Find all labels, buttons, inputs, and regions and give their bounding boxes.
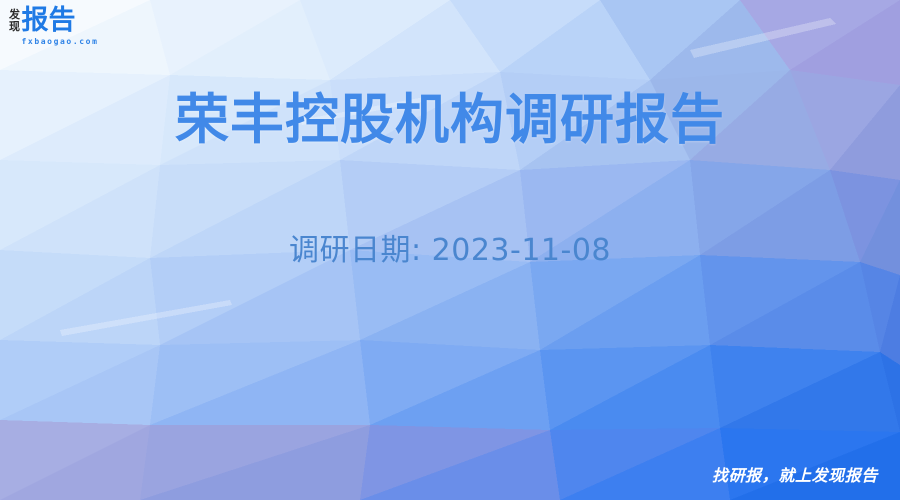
survey-date-subtitle: 调研日期: 2023-11-08 — [0, 231, 900, 271]
report-cover-slide: 发 现 报告 fxbaogao.com 荣丰控股机构调研报告 调研日期: 202… — [0, 0, 900, 500]
page-title: 荣丰控股机构调研报告 — [0, 88, 900, 152]
logo-url: fxbaogao.com — [22, 36, 99, 47]
logo-wordmark: 报告 — [22, 7, 99, 34]
logo-wordmark-group: 报告 fxbaogao.com — [22, 7, 99, 47]
logo-char-bottom: 现 — [9, 21, 20, 33]
brand-logo[interactable]: 发 现 报告 fxbaogao.com — [9, 7, 99, 47]
logo-stacked-characters: 发 现 — [9, 9, 20, 33]
footer-slogan: 找研报，就上发现报告 — [712, 466, 878, 486]
